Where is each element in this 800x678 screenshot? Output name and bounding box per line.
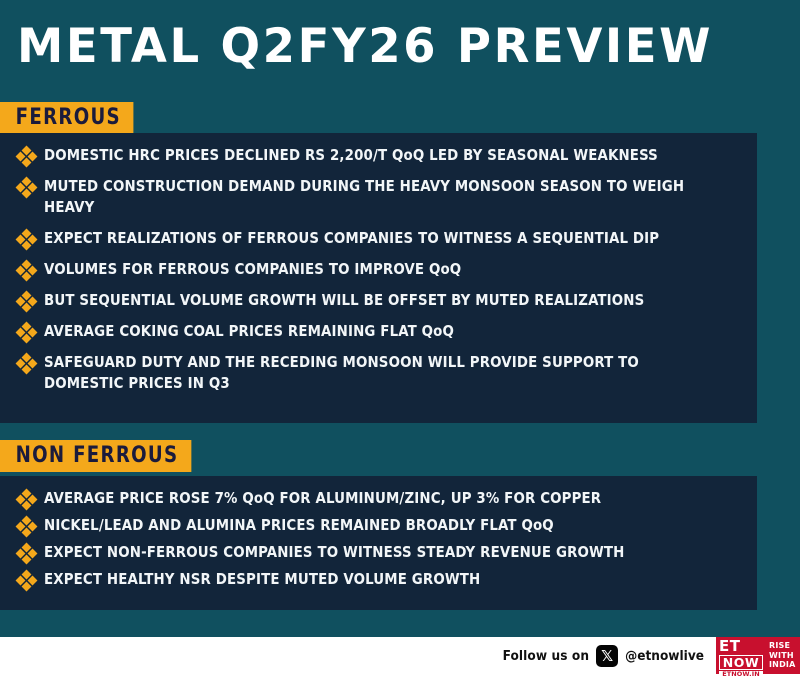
list-item-label: BUT SEQUENTIAL VOLUME GROWTH WILL BE OFF…	[44, 290, 644, 311]
diamond-bullet-icon	[16, 516, 37, 537]
ferrous-bullet-panel: DOMESTIC HRC PRICES DECLINED RS 2,200/T …	[0, 133, 757, 423]
list-item: BUT SEQUENTIAL VOLUME GROWTH WILL BE OFF…	[16, 290, 741, 311]
list-item: SAFEGUARD DUTY AND THE RECEDING MONSOON …	[16, 352, 741, 394]
list-item-label: DOMESTIC HRC PRICES DECLINED RS 2,200/T …	[44, 145, 658, 166]
list-item: AVERAGE COKING COAL PRICES REMAINING FLA…	[16, 321, 741, 342]
list-item-label: EXPECT NON-FERROUS COMPANIES TO WITNESS …	[44, 542, 625, 563]
diamond-bullet-icon	[16, 322, 37, 343]
list-item-label: SAFEGUARD DUTY AND THE RECEDING MONSOON …	[44, 352, 717, 394]
list-item-label: EXPECT HEALTHY NSR DESPITE MUTED VOLUME …	[44, 569, 480, 590]
list-item-label: MUTED CONSTRUCTION DEMAND DURING THE HEA…	[44, 176, 717, 218]
list-item: DOMESTIC HRC PRICES DECLINED RS 2,200/T …	[16, 145, 741, 166]
list-item: AVERAGE PRICE ROSE 7% QoQ FOR ALUMINUM/Z…	[16, 488, 741, 509]
diamond-bullet-icon	[16, 353, 37, 374]
x-twitter-glyph: 𝕏	[596, 645, 618, 667]
diamond-bullet-icon	[16, 229, 37, 250]
etnow-tagline: RISE WITH INDIA	[765, 637, 800, 674]
etnow-wordmark: ET NOW ETNOW.IN	[716, 637, 765, 674]
list-item: VOLUMES FOR FERROUS COMPANIES TO IMPROVE…	[16, 259, 741, 280]
tagline-line-1: RISE	[769, 641, 800, 651]
page-title: METAL Q2FY26 PREVIEW	[17, 20, 779, 74]
etnow-brand-bottom: NOW	[719, 655, 763, 670]
diamond-bullet-icon	[16, 260, 37, 281]
diamond-bullet-icon	[16, 489, 37, 510]
list-item-label: VOLUMES FOR FERROUS COMPANIES TO IMPROVE…	[44, 259, 461, 280]
list-item: EXPECT NON-FERROUS COMPANIES TO WITNESS …	[16, 542, 741, 563]
etnow-brand-top: ET	[719, 639, 763, 654]
list-item: MUTED CONSTRUCTION DEMAND DURING THE HEA…	[16, 176, 741, 218]
tagline-line-2: WITH	[769, 651, 800, 661]
list-item: EXPECT REALIZATIONS OF FERROUS COMPANIES…	[16, 228, 741, 249]
list-item-label: AVERAGE COKING COAL PRICES REMAINING FLA…	[44, 321, 454, 342]
etnow-logo[interactable]: ET NOW ETNOW.IN RISE WITH INDIA	[716, 637, 800, 674]
diamond-bullet-icon	[16, 291, 37, 312]
tagline-line-3: INDIA	[769, 660, 800, 670]
diamond-bullet-icon	[16, 570, 37, 591]
list-item: NICKEL/LEAD AND ALUMINA PRICES REMAINED …	[16, 515, 741, 536]
section-badge-ferrous: FERROUS	[0, 102, 134, 133]
list-item: EXPECT HEALTHY NSR DESPITE MUTED VOLUME …	[16, 569, 741, 590]
list-item-label: NICKEL/LEAD AND ALUMINA PRICES REMAINED …	[44, 515, 554, 536]
section-badge-non-ferrous: NON FERROUS	[0, 440, 191, 472]
non-ferrous-bullet-panel: AVERAGE PRICE ROSE 7% QoQ FOR ALUMINUM/Z…	[0, 476, 757, 610]
infographic-canvas: METAL Q2FY26 PREVIEW FERROUS DOMESTIC HR…	[0, 0, 800, 674]
follow-us-label: Follow us on	[503, 648, 590, 664]
footer-bar: Follow us on 𝕏 @etnowlive ET NOW ETNOW.I…	[0, 637, 800, 674]
list-item-label: EXPECT REALIZATIONS OF FERROUS COMPANIES…	[44, 228, 659, 249]
diamond-bullet-icon	[16, 177, 37, 198]
etnow-url: ETNOW.IN	[719, 671, 763, 678]
x-twitter-icon[interactable]: 𝕏	[596, 645, 618, 667]
diamond-bullet-icon	[16, 543, 37, 564]
diamond-bullet-icon	[16, 146, 37, 167]
social-handle[interactable]: @etnowlive	[625, 648, 704, 664]
list-item-label: AVERAGE PRICE ROSE 7% QoQ FOR ALUMINUM/Z…	[44, 488, 601, 509]
